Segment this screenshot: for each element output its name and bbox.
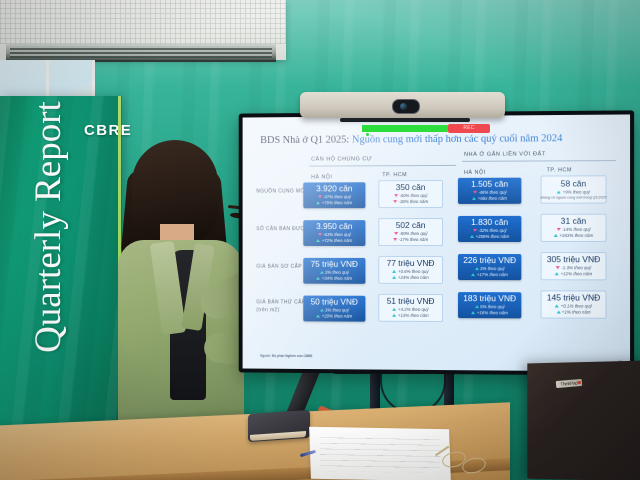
- thinkpad-logo-dot: [578, 381, 581, 384]
- cell-delta-yoy: +24% theo năm: [392, 275, 428, 281]
- triangle-up-icon: [471, 311, 475, 314]
- cell-value: 58 căn: [561, 179, 587, 188]
- triangle-down-icon: [393, 238, 397, 241]
- group-header-apartments: CĂN HỘ CHUNG CƯ: [311, 156, 372, 162]
- tv-screen: BDS Nhà ở Q1 2025: Nguồn cung mới thấp h…: [243, 114, 630, 371]
- triangle-up-icon: [471, 273, 475, 276]
- photo-scene: CBRE Quarterly Report: [0, 0, 640, 480]
- cell-delta-yoy: +16% theo năm: [471, 310, 508, 316]
- cell-value: 3.950 căn: [316, 222, 352, 230]
- slide-source-note: Nguồn: Bộ phận Nghiên cứu CBRE: [260, 354, 616, 362]
- cell-primary-price-hcm-apt[interactable]: 77 triệu VNĐ +0.6% theo quý +24% theo nă…: [378, 256, 443, 284]
- cell-delta-yoy: +72% theo năm: [316, 238, 352, 244]
- cell-value: 31 căn: [561, 217, 587, 226]
- ceiling-grid: [0, 0, 286, 44]
- triangle-up-icon: [316, 239, 320, 242]
- cell-value: 502 căn: [396, 221, 426, 229]
- triangle-down-icon: [318, 196, 322, 199]
- status-badge-rec: REC: [450, 125, 488, 131]
- group-rule-landed: [462, 160, 616, 162]
- cell-value: 183 triệu VNĐ: [463, 294, 516, 303]
- cell-units-sold-hcm-apt[interactable]: 502 căn -80% theo quý -17% theo năm: [378, 218, 443, 246]
- triangle-up-icon: [320, 309, 324, 312]
- presentation-slide: BDS Nhà ở Q1 2025: Nguồn cung mới thấp h…: [243, 114, 630, 371]
- cell-primary-price-hcm-land[interactable]: 305 triệu VNĐ -1.3% theo quý +12% theo n…: [541, 252, 607, 280]
- laptop[interactable]: [527, 360, 640, 480]
- paper-text-lines: [319, 435, 440, 473]
- cell-secondary-price-hcm-apt[interactable]: 51 triệu VNĐ +4.2% theo quý +13% theo nă…: [378, 294, 443, 322]
- cell-delta-yoy: +13% theo năm: [392, 313, 428, 319]
- cell-value: 226 triệu VNĐ: [463, 256, 516, 264]
- cell-value: 350 căn: [396, 183, 426, 191]
- printed-paper: [309, 427, 451, 480]
- cell-value: 145 triệu VNĐ: [547, 293, 600, 302]
- col-header-hanoi-apt: HÀ NỘI: [311, 174, 332, 180]
- cell-units-sold-hcm-land[interactable]: 31 căn -14% theo quý +343% theo năm: [541, 214, 607, 242]
- cell-value: 51 triệu VNĐ: [387, 297, 435, 306]
- cell-note: không có nguồn cung mới trong Q1/2025: [540, 195, 606, 199]
- cell-value: 1.505 căn: [471, 180, 508, 189]
- col-header-hanoi-land: HÀ NỘI: [464, 170, 486, 176]
- triangle-down-icon: [394, 194, 398, 197]
- triangle-down-icon: [473, 229, 477, 232]
- cell-new-supply-hanoi-apt[interactable]: 3.920 căn -47% theo quý +70% theo năm: [303, 182, 365, 208]
- cell-primary-price-hanoi-land[interactable]: 226 triệu VNĐ 3% theo quý +17% theo năm: [458, 254, 521, 280]
- triangle-up-icon: [320, 271, 324, 274]
- cell-delta-yoy: +1% theo năm: [556, 309, 590, 315]
- cell-value: 50 triệu VNĐ: [311, 298, 358, 307]
- cell-delta-yoy: +17% theo năm: [471, 272, 508, 278]
- triangle-up-icon: [557, 191, 561, 194]
- cell-delta-yoy: +343% theo năm: [554, 233, 593, 239]
- slide-title: BDS Nhà ở Q1 2025: Nguồn cung mới thấp h…: [260, 133, 620, 146]
- triangle-up-icon: [555, 305, 559, 308]
- cell-delta-yoy: +358% theo năm: [470, 234, 509, 240]
- camera-lens-icon: [392, 99, 420, 114]
- cell-value: 3.920 căn: [316, 184, 352, 192]
- cbre-logo: CBRE: [84, 122, 132, 139]
- cell-delta-yoy: -17% theo năm: [393, 237, 428, 243]
- camera-bar-stripe: [340, 118, 470, 122]
- group-rule-apartments: [309, 165, 456, 167]
- col-header-hcm-apt: TP. HCM: [382, 172, 407, 178]
- cell-value: 75 triệu VNĐ: [311, 260, 358, 268]
- cell-secondary-price-hanoi-land[interactable]: 183 triệu VNĐ 5% theo quý +16% theo năm: [458, 292, 521, 318]
- triangle-down-icon: [473, 191, 477, 194]
- triangle-up-icon: [393, 270, 397, 273]
- triangle-down-icon: [556, 267, 560, 270]
- triangle-up-icon: [392, 276, 396, 279]
- cell-value: 1.830 căn: [471, 218, 508, 226]
- triangle-up-icon: [316, 202, 320, 205]
- triangle-down-icon: [556, 228, 560, 231]
- triangle-up-icon: [554, 234, 558, 237]
- vent-slats: [10, 46, 272, 58]
- cell-delta-yoy: +20% theo năm: [316, 313, 352, 319]
- triangle-up-icon: [555, 273, 559, 276]
- cell-secondary-price-hanoi-apt[interactable]: 50 triệu VNĐ 3% theo quý +20% theo năm: [303, 296, 365, 322]
- triangle-up-icon: [475, 306, 479, 309]
- cell-delta-yoy: +66x theo năm: [472, 196, 507, 202]
- cell-delta-yoy: -38% theo năm: [393, 199, 428, 205]
- television-display[interactable]: BDS Nhà ở Q1 2025: Nguồn cung mới thấp h…: [239, 110, 634, 375]
- group-header-landed: NHÀ Ở GẮN LIỀN VỚI ĐẤT: [464, 151, 546, 157]
- triangle-up-icon: [472, 197, 476, 200]
- slide-title-prefix: BDS Nhà ở Q1 2025:: [260, 135, 349, 146]
- triangle-up-icon: [393, 308, 397, 311]
- triangle-up-icon: [470, 235, 474, 238]
- triangle-up-icon: [475, 267, 479, 270]
- triangle-up-icon: [392, 314, 396, 317]
- status-indicator-green: [362, 125, 448, 132]
- cell-delta-yoy: +12% theo năm: [555, 271, 592, 277]
- triangle-up-icon: [556, 311, 560, 314]
- col-header-hcm-land: TP. HCM: [547, 167, 572, 173]
- cell-value: 305 triệu VNĐ: [547, 255, 600, 264]
- cell-value: 77 triệu VNĐ: [387, 259, 435, 267]
- cell-delta-yoy: +70% theo năm: [316, 200, 352, 206]
- cell-primary-price-hanoi-apt[interactable]: 75 triệu VNĐ 3% theo quý +34% theo năm: [303, 258, 365, 284]
- banner-title: Quarterly Report: [30, 82, 68, 372]
- triangle-down-icon: [394, 232, 398, 235]
- cell-units-sold-hanoi-land[interactable]: 1.830 căn -32% theo quý +358% theo năm: [458, 216, 521, 242]
- source-label: Nguồn: Bộ phận Nghiên cứu CBRE: [260, 354, 312, 358]
- cell-new-supply-hcm-apt[interactable]: 350 căn -60% theo quý -38% theo năm: [378, 180, 443, 208]
- triangle-up-icon: [316, 277, 320, 280]
- triangle-down-icon: [393, 200, 397, 203]
- slide-title-highlight: Nguồn cung mới thấp hơn các quý cuối năm…: [352, 133, 563, 145]
- triangle-up-icon: [316, 315, 320, 318]
- status-dot-green: [366, 133, 369, 136]
- cell-secondary-price-hcm-land[interactable]: 145 triệu VNĐ +0.1% theo quý +1% theo nă…: [541, 290, 607, 318]
- cell-new-supply-hanoi-land[interactable]: 1.505 căn -46% theo quý +66x theo năm: [458, 178, 521, 204]
- cell-delta-yoy: +34% theo năm: [316, 276, 352, 282]
- cell-units-sold-hanoi-apt[interactable]: 3.950 căn -63% theo quý +72% theo năm: [303, 220, 365, 246]
- cell-new-supply-hcm-land[interactable]: 58 căn +9% theo quý không có nguồn cung …: [541, 175, 607, 203]
- triangle-down-icon: [318, 233, 322, 236]
